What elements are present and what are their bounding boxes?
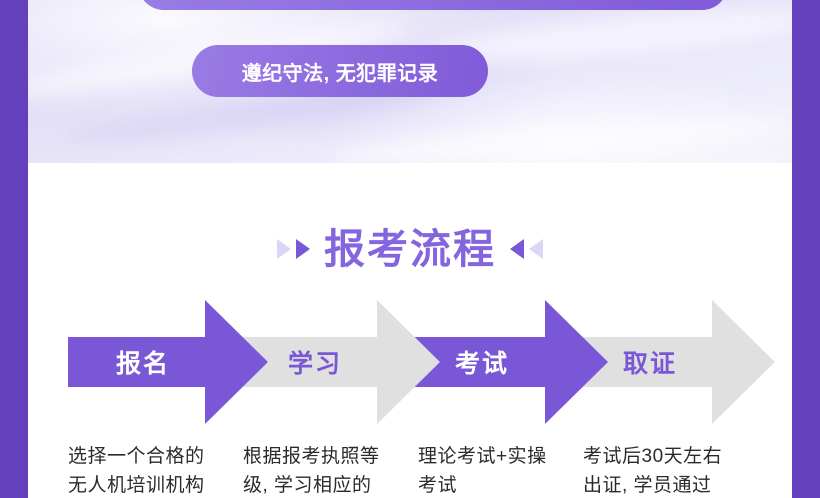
requirement-pill-legal: 遵纪守法, 无犯罪记录: [192, 45, 488, 97]
left-marker-group: [277, 239, 310, 259]
step-description-4: 考试后30天左右 出证, 学员通过: [583, 442, 768, 498]
step-description-2: 根据报考执照等 级, 学习相应的: [243, 442, 418, 498]
triangle-right-icon: [296, 239, 310, 259]
page-title: 报考流程: [324, 229, 496, 270]
flow-label-step-1: 报名: [116, 352, 170, 377]
right-marker-group: [510, 239, 543, 259]
section-title-row: 报考流程: [28, 218, 792, 280]
step-description-3: 理论考试+实操 考试: [418, 442, 593, 498]
cloud-streak: [328, 112, 792, 163]
page-root: 无色盲、无色弱, 无其他影响飞行驾驶无人机的相关疾病 遵纪守法, 无犯罪记录 报…: [0, 0, 820, 498]
flow-label-step-3: 考试: [455, 352, 509, 377]
process-flow: 报名 学习 考试 取证: [0, 295, 820, 430]
requirement-pill-legal-label: 遵纪守法, 无犯罪记录: [242, 57, 439, 86]
step-descriptions: 选择一个合格的 无人机培训机构 根据报考执照等 级, 学习相应的 理论考试+实操…: [28, 442, 792, 498]
triangle-right-faded-icon: [277, 239, 291, 259]
flow-label-step-2: 学习: [288, 352, 342, 377]
triangle-left-icon: [510, 239, 524, 259]
requirement-pill-medical: 无色盲、无色弱, 无其他影响飞行驾驶无人机的相关疾病: [138, 0, 728, 10]
flow-label-step-4: 取证: [623, 352, 677, 377]
step-description-1: 选择一个合格的 无人机培训机构: [68, 442, 243, 498]
hero-banner: 无色盲、无色弱, 无其他影响飞行驾驶无人机的相关疾病 遵纪守法, 无犯罪记录: [28, 0, 792, 163]
triangle-left-faded-icon: [529, 239, 543, 259]
